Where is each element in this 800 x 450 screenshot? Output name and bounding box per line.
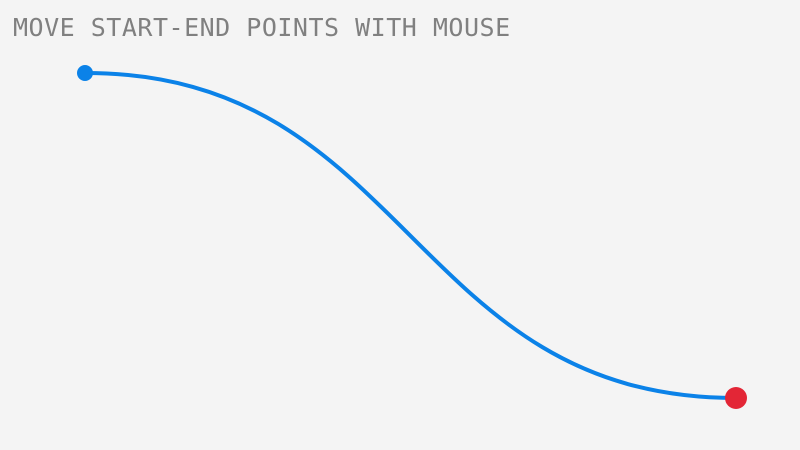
end-point-handle[interactable]: [725, 387, 747, 409]
curve-svg[interactable]: [0, 0, 800, 450]
app-root: MOVE START-END POINTS WITH MOUSE: [0, 0, 800, 450]
start-point-handle[interactable]: [77, 65, 93, 81]
page-title: MOVE START-END POINTS WITH MOUSE: [13, 13, 511, 43]
curve-canvas[interactable]: [0, 0, 800, 450]
